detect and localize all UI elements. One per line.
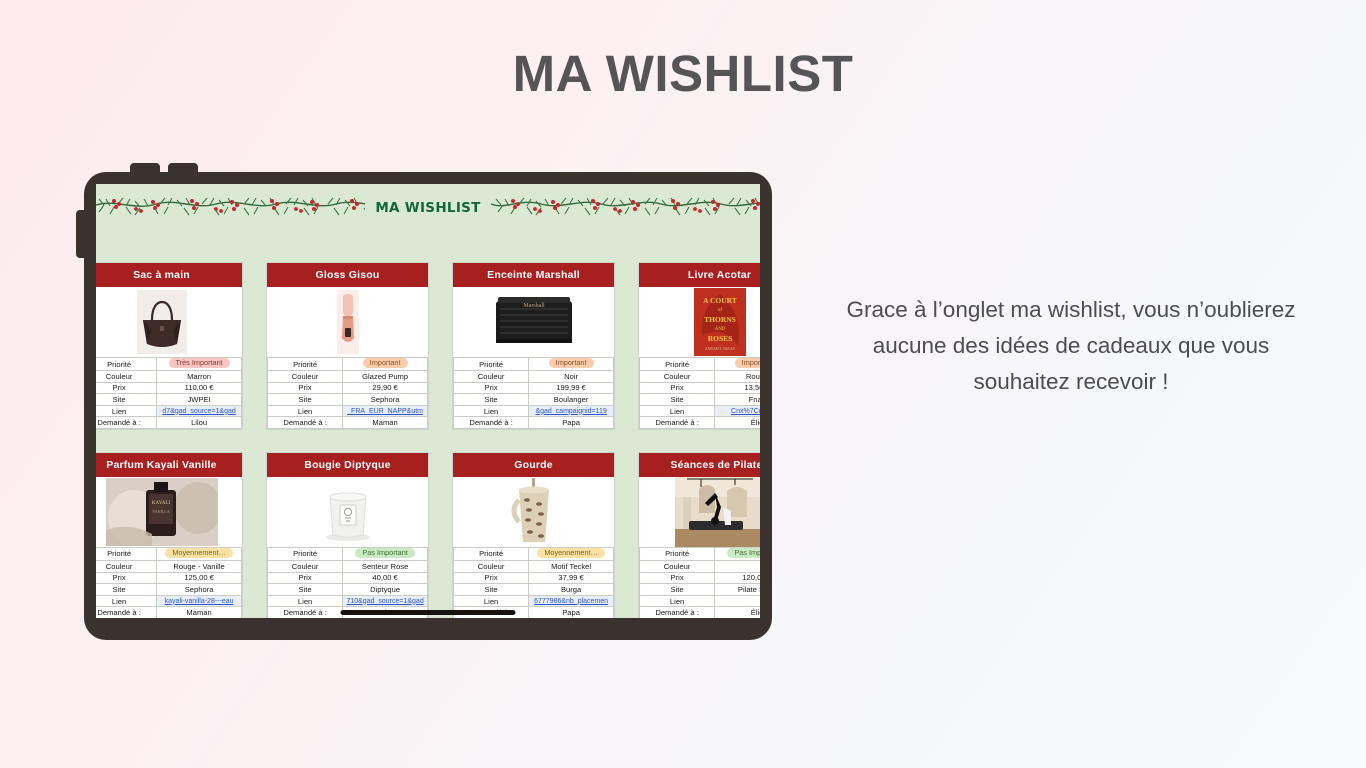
- svg-text:A COURT: A COURT: [703, 296, 737, 305]
- value-demande-a: Papa: [529, 417, 614, 429]
- row-label-demande-a: Demandé à :: [640, 417, 715, 429]
- table-row: Site Burga: [454, 584, 614, 596]
- value-site: Sephora: [157, 584, 242, 596]
- row-label-site: Site: [96, 584, 157, 596]
- table-row: Prix 40,00 €: [268, 572, 428, 584]
- value-prix: 110,00 €: [157, 382, 242, 394]
- value-couleur: Rouge: [715, 371, 760, 383]
- handbag-image: [96, 287, 242, 357]
- pilates-image: [639, 477, 760, 547]
- value-lien[interactable]: 710&gad_source=1&gad: [343, 595, 428, 607]
- table-row: Demandé à : Élio: [640, 417, 761, 429]
- row-label-lien: Lien: [268, 595, 343, 607]
- status-badge: Important: [735, 358, 760, 368]
- row-label-couleur: Couleur: [96, 560, 157, 572]
- value-demande-a: Élio: [715, 607, 760, 618]
- row-label-prix: Prix: [454, 572, 529, 584]
- priority-badge-cell: Pas Important: [715, 547, 760, 560]
- row-label-lien: Lien: [454, 595, 529, 607]
- table-row: Prix 120,00 €: [640, 572, 761, 584]
- row-label-site: Site: [454, 394, 529, 406]
- svg-text:SARAH J. MAAS: SARAH J. MAAS: [705, 346, 735, 351]
- table-row: Prix 29,90 €: [268, 382, 428, 394]
- table-row: Priorité Important: [268, 358, 428, 371]
- table-row: Lien 6777986&nb_placemen: [454, 595, 614, 607]
- table-row: Demandé à : Maman: [96, 607, 242, 618]
- table-row: Priorité Important: [454, 358, 614, 371]
- status-badge: Moyennement…: [165, 548, 233, 558]
- svg-text:THORNS: THORNS: [704, 315, 736, 324]
- svg-text:Marshall: Marshall: [523, 303, 545, 309]
- priority-badge-cell: Moyennement…: [157, 547, 242, 560]
- table-row: Demandé à : Lilou: [96, 417, 242, 429]
- row-label-demande-a: Demandé à :: [454, 417, 529, 429]
- table-row: Site JWPEI: [96, 394, 242, 406]
- row-label-couleur: Couleur: [454, 560, 529, 572]
- value-prix: 125,00 €: [157, 572, 242, 584]
- row-label-lien: Lien: [640, 595, 715, 607]
- table-row: Site Diptyque: [268, 584, 428, 596]
- card-detail-table: Priorité Pas Important Couleur Senteur R…: [267, 547, 428, 618]
- row-label-site: Site: [96, 394, 157, 406]
- card-detail-table: Priorité Pas Important Couleur Prix 120,…: [639, 547, 760, 618]
- card-title: Gourde: [453, 453, 614, 477]
- table-row: Couleur Glazed Pump: [268, 371, 428, 383]
- row-label-couleur: Couleur: [268, 560, 343, 572]
- row-label-demande-a: Demandé à :: [96, 607, 157, 618]
- table-row: Prix 110,00 €: [96, 382, 242, 394]
- tablet-screen: MA WISHLIST: [96, 184, 760, 618]
- card-title: Bougie Diptyque: [267, 453, 428, 477]
- value-prix: 120,00 €: [715, 572, 760, 584]
- book-image: A COURT of THORNS AND ROSES SARAH J. MAA…: [639, 287, 760, 357]
- card-title: Parfum Kayali Vanille: [96, 453, 242, 477]
- value-site: Fnac: [715, 394, 760, 406]
- row-label-site: Site: [268, 394, 343, 406]
- table-row: Prix 37,99 €: [454, 572, 614, 584]
- value-lien[interactable]: d7&gad_source=1&gad: [157, 405, 242, 417]
- wishlist-card[interactable]: Parfum Kayali Vanille KAYALI VANILLA Pri…: [96, 452, 243, 618]
- tablet-frame: MA WISHLIST: [84, 172, 772, 640]
- row-label-demande-a: Demandé à :: [640, 607, 715, 618]
- lipgloss-image: [267, 287, 428, 357]
- table-row: Lien kayali-vanilla-28---eau: [96, 595, 242, 607]
- card-title: Sac à main: [96, 263, 242, 287]
- table-row: Prix 125,00 €: [96, 572, 242, 584]
- row-label-demande-a: Demandé à :: [96, 417, 157, 429]
- value-couleur: Motif Teckel: [529, 560, 614, 572]
- svg-text:ROSES: ROSES: [707, 334, 732, 343]
- garland-left-icon: [96, 193, 365, 223]
- value-lien[interactable]: 6777986&nb_placemen: [529, 595, 614, 607]
- row-label-lien: Lien: [640, 405, 715, 417]
- table-row: Site Boulanger: [454, 394, 614, 406]
- value-demande-a: Maman: [157, 607, 242, 618]
- caption-text: Grace à l’onglet ma wishlist, vous n’oub…: [836, 292, 1306, 400]
- row-label-prix: Prix: [454, 382, 529, 394]
- table-row: Couleur Motif Teckel: [454, 560, 614, 572]
- svg-text:KAYALI: KAYALI: [151, 501, 169, 506]
- table-row: Demandé à : Maman: [268, 417, 428, 429]
- table-row: Site Sephora: [96, 584, 242, 596]
- value-lien[interactable]: &gad_campaignid=119: [529, 405, 614, 417]
- row-label-lien: Lien: [96, 405, 157, 417]
- value-site: Burga: [529, 584, 614, 596]
- table-row: Site Fnac: [640, 394, 761, 406]
- wishlist-card[interactable]: Bougie Diptyque Priorité Pas Important C…: [266, 452, 429, 618]
- value-demande-a: Papa: [529, 607, 614, 618]
- table-row: Couleur Noir: [454, 371, 614, 383]
- row-label-priorite: Priorité: [96, 358, 157, 371]
- home-indicator[interactable]: [341, 610, 516, 615]
- table-row: Prix 199,99 €: [454, 382, 614, 394]
- table-row: Couleur Marron: [96, 371, 242, 383]
- row-label-demande-a: Demandé à :: [268, 417, 343, 429]
- row-label-prix: Prix: [268, 572, 343, 584]
- value-couleur: Marron: [157, 371, 242, 383]
- tumbler-image: [453, 477, 614, 547]
- value-site: Diptyque: [343, 584, 428, 596]
- table-row: Lien &gad_campaignid=119: [454, 405, 614, 417]
- table-row: Priorité Pas Important: [640, 547, 761, 560]
- table-row: Priorité Important: [640, 358, 761, 371]
- table-row: Couleur Rouge: [640, 371, 761, 383]
- row-label-site: Site: [454, 584, 529, 596]
- value-demande-a: Lilou: [157, 417, 242, 429]
- status-badge: Important: [549, 358, 594, 368]
- card-detail-table: Priorité Moyennement… Couleur Motif Teck…: [453, 547, 614, 618]
- table-row: Lien: [640, 595, 761, 607]
- garland-right-icon: [491, 193, 760, 223]
- value-site: JWPEI: [157, 394, 242, 406]
- value-prix: 199,99 €: [529, 382, 614, 394]
- wishlist-card[interactable]: Livre Acotar A COURT of THORNS AND ROSES…: [638, 262, 760, 430]
- row-label-priorite: Priorité: [640, 358, 715, 371]
- priority-badge-cell: Important: [715, 358, 760, 371]
- card-title: Séances de Pilates: [639, 453, 760, 477]
- wishlist-card[interactable]: Sac à main Priorité Très Important Coule…: [96, 262, 243, 430]
- row-label-prix: Prix: [640, 382, 715, 394]
- row-label-priorite: Priorité: [268, 358, 343, 371]
- table-row: Site Pilate Studi: [640, 584, 761, 596]
- row-label-couleur: Couleur: [454, 371, 529, 383]
- table-row: Lien 710&gad_source=1&gad: [268, 595, 428, 607]
- wishlist-banner: MA WISHLIST: [96, 184, 760, 228]
- value-couleur: Glazed Pump: [343, 371, 428, 383]
- status-badge: Très Important: [169, 358, 230, 368]
- value-couleur: [715, 560, 760, 572]
- svg-text:of: of: [717, 308, 722, 313]
- card-title: Gloss Gisou: [267, 263, 428, 287]
- row-label-couleur: Couleur: [640, 560, 715, 572]
- banner-title: MA WISHLIST: [371, 200, 484, 216]
- speaker-image: Marshall: [453, 287, 614, 357]
- table-row: Lien _FRA_EUR_NAPP&utm: [268, 405, 428, 417]
- row-label-site: Site: [640, 584, 715, 596]
- priority-badge-cell: Important: [529, 358, 614, 371]
- priority-badge-cell: Important: [343, 358, 428, 371]
- row-label-prix: Prix: [96, 572, 157, 584]
- table-row: Lien d7&gad_source=1&gad: [96, 405, 242, 417]
- wishlist-card[interactable]: Gourde Priorité Moyennement… Cou: [452, 452, 615, 618]
- row-label-prix: Prix: [640, 572, 715, 584]
- value-lien: [715, 595, 760, 607]
- page-title: MA WISHLIST: [0, 44, 1366, 103]
- wishlist-card-grid: Sac à main Priorité Très Important Coule…: [96, 262, 760, 618]
- status-badge: Important: [363, 358, 408, 368]
- table-row: Couleur Rouge - Vanille: [96, 560, 242, 572]
- row-label-priorite: Priorité: [640, 547, 715, 560]
- perfume-image: KAYALI VANILLA: [96, 477, 242, 547]
- value-lien[interactable]: Cnx%7Cc%7Cm: [715, 405, 760, 417]
- row-label-priorite: Priorité: [268, 547, 343, 560]
- card-detail-table: Priorité Moyennement… Couleur Rouge - Va…: [96, 547, 242, 618]
- row-label-priorite: Priorité: [96, 547, 157, 560]
- card-title: Livre Acotar: [639, 263, 760, 287]
- value-prix: 40,00 €: [343, 572, 428, 584]
- row-label-priorite: Priorité: [454, 358, 529, 371]
- wishlist-card[interactable]: Séances de Pilates Priorité: [638, 452, 760, 618]
- value-couleur: Noir: [529, 371, 614, 383]
- table-row: Site Sephora: [268, 394, 428, 406]
- value-demande-a: Élio: [715, 417, 760, 429]
- card-detail-table: Priorité Important Couleur Noir Prix 199…: [453, 357, 614, 429]
- value-demande-a: Maman: [343, 417, 428, 429]
- row-label-site: Site: [640, 394, 715, 406]
- value-lien[interactable]: _FRA_EUR_NAPP&utm: [343, 405, 428, 417]
- priority-badge-cell: Pas Important: [343, 547, 428, 560]
- table-row: Priorité Moyennement…: [96, 547, 242, 560]
- row-label-demande-a: Demandé à :: [268, 607, 343, 618]
- table-row: Couleur Senteur Rose: [268, 560, 428, 572]
- priority-badge-cell: Très Important: [157, 358, 242, 371]
- status-badge: Pas Important: [355, 548, 414, 558]
- row-label-prix: Prix: [96, 382, 157, 394]
- row-label-site: Site: [268, 584, 343, 596]
- row-label-couleur: Couleur: [96, 371, 157, 383]
- tablet-device: MA WISHLIST: [84, 172, 772, 640]
- row-label-couleur: Couleur: [268, 371, 343, 383]
- value-prix: 37,99 €: [529, 572, 614, 584]
- svg-text:VANILLA: VANILLA: [152, 509, 169, 514]
- value-site: Sephora: [343, 394, 428, 406]
- card-detail-table: Priorité Important Couleur Glazed Pump P…: [267, 357, 428, 429]
- value-couleur: Senteur Rose: [343, 560, 428, 572]
- candle-image: [267, 477, 428, 547]
- value-site: Pilate Studi: [715, 584, 760, 596]
- table-row: Couleur: [640, 560, 761, 572]
- table-row: Priorité Très Important: [96, 358, 242, 371]
- row-label-lien: Lien: [268, 405, 343, 417]
- value-lien[interactable]: kayali-vanilla-28---eau: [157, 595, 242, 607]
- wishlist-card[interactable]: Enceinte Marshall Marshall Priorité Impo…: [452, 262, 615, 430]
- svg-text:AND: AND: [714, 327, 725, 332]
- row-label-prix: Prix: [268, 382, 343, 394]
- status-badge: Pas Important: [727, 548, 760, 558]
- table-row: Demandé à : Papa: [454, 417, 614, 429]
- value-prix: 29,90 €: [343, 382, 428, 394]
- table-row: Demandé à : Élio: [640, 607, 761, 618]
- table-row: Prix 13,50 €: [640, 382, 761, 394]
- card-detail-table: Priorité Très Important Couleur Marron P…: [96, 357, 242, 429]
- priority-badge-cell: Moyennement…: [529, 547, 614, 560]
- value-site: Boulanger: [529, 394, 614, 406]
- row-label-priorite: Priorité: [454, 547, 529, 560]
- table-row: Priorité Moyennement…: [454, 547, 614, 560]
- row-label-couleur: Couleur: [640, 371, 715, 383]
- value-prix: 13,50 €: [715, 382, 760, 394]
- card-detail-table: Priorité Important Couleur Rouge Prix 13…: [639, 357, 760, 429]
- status-badge: Moyennement…: [537, 548, 605, 558]
- card-title: Enceinte Marshall: [453, 263, 614, 287]
- wishlist-card[interactable]: Gloss Gisou Priorité Important Couleur G…: [266, 262, 429, 430]
- row-label-lien: Lien: [96, 595, 157, 607]
- table-row: Lien Cnx%7Cc%7Cm: [640, 405, 761, 417]
- table-row: Priorité Pas Important: [268, 547, 428, 560]
- value-couleur: Rouge - Vanille: [157, 560, 242, 572]
- row-label-lien: Lien: [454, 405, 529, 417]
